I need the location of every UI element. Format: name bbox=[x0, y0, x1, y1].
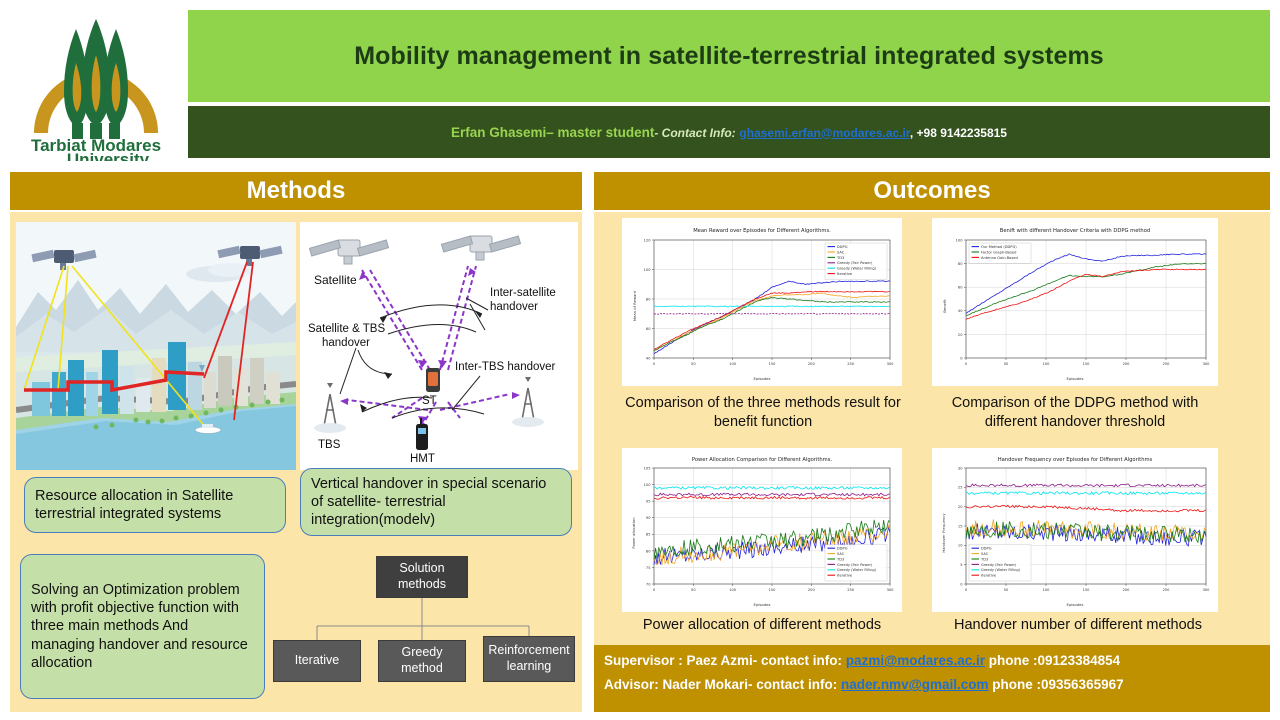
svg-text:250: 250 bbox=[1163, 362, 1171, 366]
svg-text:50: 50 bbox=[691, 588, 696, 592]
university-logo: Tarbiat Modares University bbox=[10, 8, 182, 163]
svg-text:150: 150 bbox=[769, 362, 777, 366]
section-header-methods: Methods bbox=[10, 172, 582, 210]
caption-chart-4: Handover number of different methods bbox=[928, 616, 1228, 635]
label-inter-satellite-1: Inter-satellite bbox=[490, 287, 556, 299]
svg-text:100: 100 bbox=[1043, 362, 1051, 366]
svg-text:300: 300 bbox=[887, 588, 895, 592]
svg-text:80: 80 bbox=[958, 262, 963, 266]
svg-text:20: 20 bbox=[958, 505, 963, 509]
svg-text:Factor Graph-Based: Factor Graph-Based bbox=[981, 250, 1016, 254]
poster-title: Mobility management in satellite-terrest… bbox=[354, 42, 1104, 71]
advisor-email-link[interactable]: nader.nmv@gmail.com bbox=[841, 677, 988, 692]
svg-text:Iterative: Iterative bbox=[981, 574, 997, 578]
handover-scenario-diagram: Satellite Inter-satellite handover Satel… bbox=[300, 222, 578, 470]
supervisor-line: Supervisor : Paez Azmi- contact info: pa… bbox=[604, 653, 1260, 668]
svg-text:Iterative: Iterative bbox=[837, 574, 853, 578]
svg-text:200: 200 bbox=[1123, 588, 1131, 592]
svg-text:200: 200 bbox=[808, 588, 816, 592]
caption-chart-2: Comparison of the DDPG method with diffe… bbox=[928, 394, 1222, 431]
satellite-city-illustration bbox=[16, 222, 296, 470]
contact-info-label: - Contact Info: bbox=[654, 126, 735, 140]
tree-node-reinforcement-learning: Reinforcement learning bbox=[483, 636, 575, 682]
author-phone: , +98 9142235815 bbox=[910, 126, 1007, 140]
svg-text:150: 150 bbox=[1083, 588, 1091, 592]
chart-handover-frequency: Handover Frequency over Episodes for Dif… bbox=[932, 448, 1218, 612]
section-header-outcomes: Outcomes bbox=[594, 172, 1270, 210]
chart4-xlabel: Episodes bbox=[1067, 602, 1084, 607]
svg-text:Antenna Gain-Based: Antenna Gain-Based bbox=[981, 256, 1018, 260]
chart3-title: Power Allocation Comparison for Differen… bbox=[692, 457, 833, 463]
svg-text:80: 80 bbox=[646, 549, 651, 553]
chart-mean-reward-svg: Mean Reward over Episodes for Different … bbox=[622, 218, 902, 386]
svg-text:Greedy (Fair Power): Greedy (Fair Power) bbox=[981, 563, 1017, 567]
svg-text:75: 75 bbox=[646, 566, 651, 570]
label-satellite: Satellite bbox=[314, 273, 357, 287]
svg-text:SAC: SAC bbox=[837, 552, 845, 556]
svg-text:150: 150 bbox=[1083, 362, 1091, 366]
svg-text:100: 100 bbox=[644, 483, 652, 487]
svg-text:100: 100 bbox=[956, 238, 964, 242]
svg-text:100: 100 bbox=[729, 588, 737, 592]
svg-text:15: 15 bbox=[958, 524, 963, 528]
svg-text:DDPG: DDPG bbox=[981, 547, 992, 551]
svg-text:300: 300 bbox=[1203, 588, 1211, 592]
svg-text:Our Method (DDPG): Our Method (DDPG) bbox=[981, 245, 1017, 249]
svg-text:250: 250 bbox=[1163, 588, 1171, 592]
svg-text:250: 250 bbox=[847, 362, 855, 366]
svg-text:300: 300 bbox=[1203, 362, 1211, 366]
svg-text:TD3: TD3 bbox=[836, 557, 844, 561]
callout-vertical-text: Vertical handover in special scenario of… bbox=[311, 475, 561, 530]
svg-text:105: 105 bbox=[644, 466, 651, 470]
chart-handover-svg: Handover Frequency over Episodes for Dif… bbox=[932, 448, 1218, 612]
label-sat-tbs-2: handover bbox=[322, 337, 370, 349]
advisor-phone: phone :09356365967 bbox=[992, 677, 1123, 692]
author-email-link[interactable]: ghasemi.erfan@modares.ac.ir bbox=[739, 126, 909, 140]
svg-text:Greedy (Water Filling): Greedy (Water Filling) bbox=[981, 568, 1021, 572]
svg-text:100: 100 bbox=[729, 362, 737, 366]
label-inter-satellite-2: handover bbox=[490, 301, 538, 313]
label-sat-tbs-1: Satellite & TBS bbox=[308, 323, 385, 335]
callout-resource-allocation: Resource allocation in Satellite terrest… bbox=[24, 477, 286, 533]
svg-text:TD3: TD3 bbox=[836, 256, 844, 260]
label-inter-tbs: Inter-TBS handover bbox=[455, 361, 556, 373]
label-hmt: HMT bbox=[410, 453, 435, 465]
methods-title: Methods bbox=[247, 177, 346, 205]
svg-text:60: 60 bbox=[958, 286, 963, 290]
st-device-icon bbox=[426, 368, 440, 392]
svg-text:5: 5 bbox=[960, 563, 962, 567]
svg-text:SAC: SAC bbox=[981, 552, 989, 556]
chart-power-svg: Power Allocation Comparison for Differen… bbox=[622, 448, 902, 612]
svg-text:SAC: SAC bbox=[837, 250, 845, 254]
svg-text:40: 40 bbox=[646, 356, 651, 360]
chart3-xlabel: Episodes bbox=[754, 602, 771, 607]
research-poster: Tarbiat Modares University Mobility mana… bbox=[0, 0, 1280, 720]
svg-text:30: 30 bbox=[958, 466, 963, 470]
contact-footer: Supervisor : Paez Azmi- contact info: pa… bbox=[594, 645, 1270, 712]
chart1-xlabel: Episodes bbox=[754, 376, 771, 381]
tree-node-greedy: Greedy method bbox=[378, 640, 466, 682]
supervisor-email-link[interactable]: pazmi@modares.ac.ir bbox=[846, 653, 985, 668]
chart-mean-reward: Mean Reward over Episodes for Different … bbox=[622, 218, 902, 386]
chart4-ylabel: Handover Frequency bbox=[941, 513, 946, 553]
supervisor-phone: phone :09123384854 bbox=[989, 653, 1120, 668]
svg-text:250: 250 bbox=[847, 588, 855, 592]
svg-text:100: 100 bbox=[1043, 588, 1051, 592]
svg-text:DDPG: DDPG bbox=[837, 547, 848, 551]
svg-text:Greedy (Fair Power): Greedy (Fair Power) bbox=[837, 261, 873, 265]
svg-text:TD3: TD3 bbox=[980, 557, 988, 561]
tarbiat-modares-logo-graphic: Tarbiat Modares University bbox=[16, 11, 176, 161]
poster-title-bar: Mobility management in satellite-terrest… bbox=[188, 10, 1270, 102]
svg-text:40: 40 bbox=[958, 309, 963, 313]
chart-benefit-svg: Benift with different Handover Criteria … bbox=[932, 218, 1218, 386]
callout-optimization-text: Solving an Optimization problem with pro… bbox=[31, 581, 254, 672]
svg-text:60: 60 bbox=[646, 327, 651, 331]
tree-node-root: Solution methods bbox=[376, 556, 468, 598]
chart1-title: Mean Reward over Episodes for Different … bbox=[693, 228, 831, 234]
svg-text:Iterative: Iterative bbox=[837, 272, 853, 276]
callout-vertical-handover: Vertical handover in special scenario of… bbox=[300, 468, 572, 536]
svg-text:85: 85 bbox=[646, 533, 651, 537]
svg-text:50: 50 bbox=[1004, 588, 1009, 592]
svg-text:300: 300 bbox=[887, 362, 895, 366]
chart1-ylabel: Mean of Reward bbox=[632, 290, 637, 321]
city-coverage-graphic bbox=[16, 222, 296, 470]
chart2-ylabel: Benefit bbox=[942, 299, 947, 313]
svg-text:95: 95 bbox=[646, 500, 651, 504]
chart-benefit-handover-criteria: Benift with different Handover Criteria … bbox=[932, 218, 1218, 386]
svg-text:20: 20 bbox=[958, 333, 963, 337]
chart4-title: Handover Frequency over Episodes for Dif… bbox=[998, 457, 1153, 463]
svg-text:200: 200 bbox=[1123, 362, 1131, 366]
caption-chart-1: Comparison of the three methods result f… bbox=[618, 394, 908, 431]
author-line: Erfan Ghasemi– master student- Contact I… bbox=[451, 125, 1007, 140]
caption-chart-3: Power allocation of different methods bbox=[612, 616, 912, 635]
advisor-line: Advisor: Nader Mokari- contact info: nad… bbox=[604, 677, 1260, 692]
chart2-xlabel: Episodes bbox=[1067, 376, 1084, 381]
author-name: Erfan Ghasemi– master student bbox=[451, 125, 654, 140]
svg-text:Greedy (Water Filling): Greedy (Water Filling) bbox=[837, 267, 877, 271]
svg-text:50: 50 bbox=[691, 362, 696, 366]
chart3-ylabel: Power allocation bbox=[631, 517, 636, 549]
callout-resource-text: Resource allocation in Satellite terrest… bbox=[35, 487, 275, 524]
callout-optimization: Solving an Optimization problem with pro… bbox=[20, 554, 265, 699]
chart2-title: Benift with different Handover Criteria … bbox=[1000, 228, 1150, 234]
svg-text:10: 10 bbox=[958, 544, 963, 548]
svg-text:Greedy (Water Filling): Greedy (Water Filling) bbox=[837, 568, 877, 572]
logo-line2: University bbox=[67, 150, 150, 161]
advisor-prefix: Advisor: Nader Mokari- contact info: bbox=[604, 677, 837, 692]
svg-text:80: 80 bbox=[646, 297, 651, 301]
svg-text:DDPG: DDPG bbox=[837, 245, 848, 249]
chart-power-allocation: Power Allocation Comparison for Differen… bbox=[622, 448, 902, 612]
svg-text:90: 90 bbox=[646, 516, 651, 520]
supervisor-prefix: Supervisor : Paez Azmi- contact info: bbox=[604, 653, 842, 668]
label-tbs: TBS bbox=[318, 439, 341, 451]
svg-text:50: 50 bbox=[1004, 362, 1009, 366]
svg-text:200: 200 bbox=[808, 362, 816, 366]
label-st: ST bbox=[422, 395, 437, 407]
svg-text:100: 100 bbox=[644, 268, 652, 272]
svg-text:70: 70 bbox=[646, 582, 651, 586]
svg-text:Greedy (Fair Power): Greedy (Fair Power) bbox=[837, 563, 873, 567]
tree-node-iterative: Iterative bbox=[273, 640, 361, 682]
author-bar: Erfan Ghasemi– master student- Contact I… bbox=[188, 106, 1270, 158]
handover-diagram-graphic: Satellite Inter-satellite handover Satel… bbox=[300, 222, 578, 470]
outcomes-title: Outcomes bbox=[873, 177, 990, 205]
svg-text:120: 120 bbox=[644, 238, 652, 242]
solution-methods-tree: Solution methods Iterative Greedy method… bbox=[268, 552, 580, 700]
svg-text:25: 25 bbox=[958, 486, 963, 490]
svg-text:150: 150 bbox=[769, 588, 777, 592]
